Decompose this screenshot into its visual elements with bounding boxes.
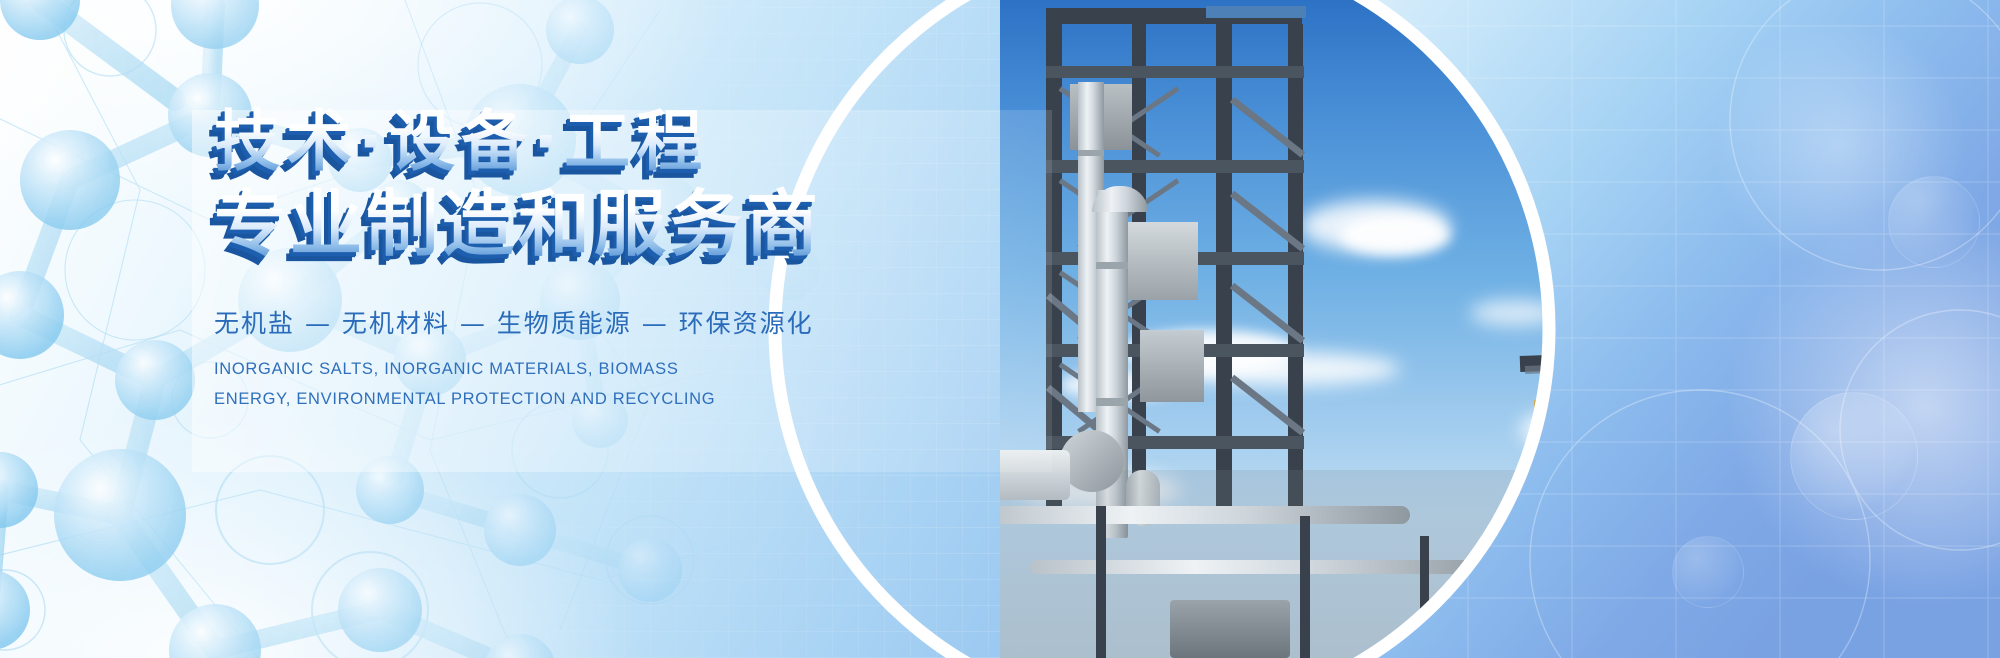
decorative-bubble [1790,392,1918,520]
decorative-bubble [1672,536,1744,608]
headline-line-2: 专业制造和服务商 [214,178,1034,270]
banner-text-content: 技术·设备·工程 专业制造和服务商 无机盐 — 无机材料 — 生物质能源 — 环… [214,96,1034,414]
subtitle-chinese: 无机盐 — 无机材料 — 生物质能源 — 环保资源化 [214,304,1034,340]
industrial-photo [1000,0,2000,658]
headline-line-1: 技术·设备·工程 [214,100,1034,184]
banner-root: 技术·设备·工程 专业制造和服务商 无机盐 — 无机材料 — 生物质能源 — 环… [0,0,2000,658]
subtitle-english: INORGANIC SALTS, INORGANIC MATERIALS, BI… [214,354,744,414]
decorative-bubble [1888,176,1980,268]
